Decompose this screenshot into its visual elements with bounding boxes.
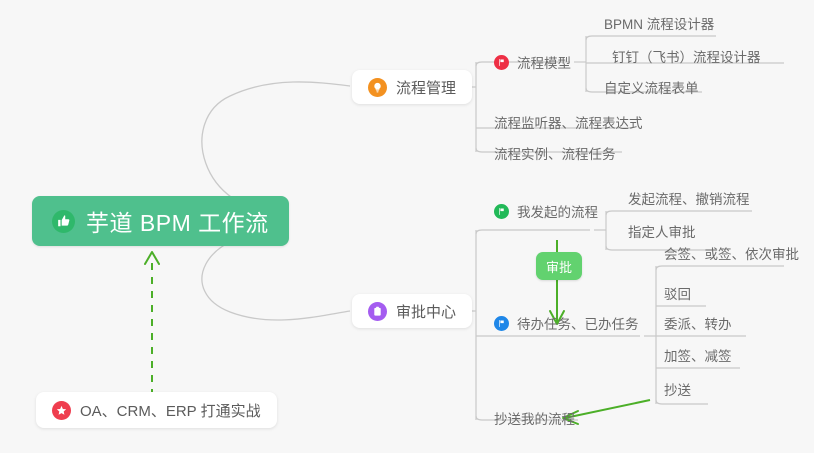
- link-root-to-process-management: [202, 82, 350, 213]
- mindmap-canvas: 芋道 BPM 工作流 OA、CRM、ERP 打通实战 流程管理 流程模型: [0, 0, 814, 453]
- link-model-child-1: [586, 36, 716, 40]
- node-label-cc: 抄送: [664, 379, 691, 399]
- node-label-assignee-approval: 指定人审批: [628, 221, 696, 241]
- node-my-initiated[interactable]: 我发起的流程: [490, 198, 603, 224]
- node-countersign[interactable]: 会签、或签、依次审批: [660, 240, 804, 266]
- node-label-start-cancel-process: 发起流程、撤销流程: [628, 188, 750, 208]
- node-label-cc-to-me: 抄送我的流程: [494, 408, 575, 428]
- node-label-dingtalk-designer: 钉钉（飞书）流程设计器: [612, 46, 761, 66]
- node-cc-to-me[interactable]: 抄送我的流程: [490, 405, 580, 431]
- lightbulb-icon: [368, 78, 387, 97]
- node-delegate-transfer[interactable]: 委派、转办: [660, 310, 737, 336]
- bottom-note-label: OA、CRM、ERP 打通实战: [80, 400, 261, 421]
- root-label: 芋道 BPM 工作流: [86, 204, 269, 238]
- node-label-process-model: 流程模型: [517, 52, 571, 72]
- node-label-countersign: 会签、或签、依次审批: [664, 243, 799, 263]
- thumbs-up-icon: [52, 210, 75, 233]
- branch-label-process-management: 流程管理: [396, 77, 456, 98]
- node-process-listener[interactable]: 流程监听器、流程表达式: [490, 109, 648, 135]
- node-process-instance[interactable]: 流程实例、流程任务: [490, 140, 621, 166]
- node-start-cancel-process[interactable]: 发起流程、撤销流程: [624, 185, 755, 211]
- flag-icon: [494, 316, 509, 331]
- clipboard-icon: [368, 302, 387, 321]
- node-reject[interactable]: 驳回: [660, 280, 696, 306]
- node-dingtalk-designer[interactable]: 钉钉（飞书）流程设计器: [608, 43, 766, 69]
- root-node[interactable]: 芋道 BPM 工作流: [32, 196, 289, 246]
- node-process-model[interactable]: 流程模型: [490, 49, 576, 75]
- node-label-bpmn-designer: BPMN 流程设计器: [604, 13, 714, 33]
- link-todo-child-1: [656, 266, 784, 270]
- node-label-process-instance: 流程实例、流程任务: [494, 143, 616, 163]
- branch-label-approval-center: 审批中心: [396, 301, 456, 322]
- node-cc[interactable]: 抄送: [660, 376, 696, 402]
- node-custom-form[interactable]: 自定义流程表单: [600, 74, 704, 100]
- link-init-child-1: [606, 211, 752, 215]
- node-add-remove-sign[interactable]: 加签、减签: [660, 342, 737, 368]
- node-label-custom-form: 自定义流程表单: [604, 77, 699, 97]
- branch-node-approval-center[interactable]: 审批中心: [352, 294, 472, 328]
- node-label-todo-done-tasks: 待办任务、已办任务: [517, 313, 639, 333]
- annotation-tag-approval[interactable]: 审批: [536, 252, 582, 280]
- node-label-delegate-transfer: 委派、转办: [664, 313, 732, 333]
- node-label-reject: 驳回: [664, 283, 691, 303]
- arrowhead-up: [145, 252, 159, 264]
- node-label-process-listener: 流程监听器、流程表达式: [494, 112, 643, 132]
- flag-icon: [494, 204, 509, 219]
- node-bpmn-designer[interactable]: BPMN 流程设计器: [600, 10, 719, 36]
- bottom-note-node[interactable]: OA、CRM、ERP 打通实战: [36, 392, 277, 428]
- node-todo-done-tasks[interactable]: 待办任务、已办任务: [490, 310, 644, 336]
- node-label-my-initiated: 我发起的流程: [517, 201, 598, 221]
- branch-node-process-management[interactable]: 流程管理: [352, 70, 472, 104]
- flag-icon: [494, 55, 509, 70]
- node-label-add-remove-sign: 加签、减签: [664, 345, 732, 365]
- link-ac-child-1: [476, 230, 590, 234]
- annotation-tag-label: 审批: [546, 257, 572, 276]
- star-icon: [52, 401, 71, 420]
